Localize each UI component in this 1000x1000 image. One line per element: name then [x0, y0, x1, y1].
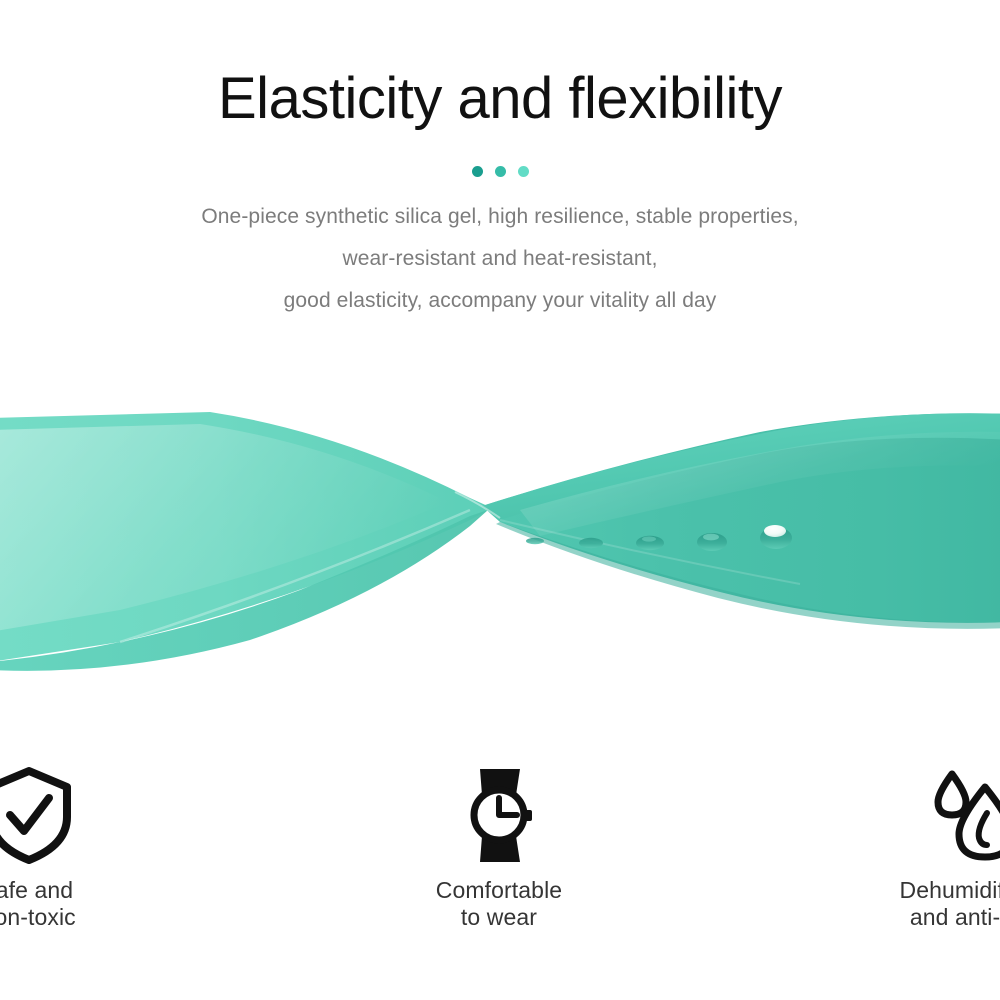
feature-item-safe: safe and non-toxic [0, 765, 195, 945]
divider-dot-3 [518, 166, 529, 177]
feature-caption-line-2: non-toxic [0, 904, 76, 931]
subtitle-line-3: good elasticity, accompany your vitality… [0, 280, 1000, 322]
subtitle-line-2: wear-resistant and heat-resistant, [0, 238, 1000, 280]
wristwatch-icon [453, 765, 545, 865]
page-title: Elasticity and flexibility [0, 63, 1000, 135]
feature-caption-line-2: and anti-sweat [900, 904, 1000, 931]
feature-caption-dehumidification: Dehumidification and anti-sweat [900, 877, 1000, 931]
water-drops-icon [933, 765, 1000, 865]
feature-caption-line-1: Comfortable [436, 877, 562, 904]
feature-icon-wrap [933, 765, 1000, 865]
twisted-band-illustration [0, 370, 1000, 700]
feature-caption-safe: safe and non-toxic [0, 877, 76, 931]
feature-icon-wrap [453, 765, 545, 865]
adjustment-hole-1 [526, 538, 544, 544]
feature-caption-line-1: Dehumidification [900, 877, 1000, 904]
feature-caption-line-1: safe and [0, 877, 76, 904]
adjustment-hole-3-highlight [642, 536, 656, 541]
subtitle-block: One-piece synthetic silica gel, high res… [0, 196, 1000, 322]
feature-row: safe and non-toxic Comfortable to wear [0, 765, 1000, 945]
divider-dots [0, 164, 1000, 178]
feature-icon-wrap [0, 765, 75, 865]
product-feature-page: Elasticity and flexibility One-piece syn… [0, 0, 1000, 1000]
divider-dot-1 [472, 166, 483, 177]
feature-caption-comfortable: Comfortable to wear [436, 877, 562, 931]
divider-dot-2 [495, 166, 506, 177]
shield-check-icon [0, 765, 75, 865]
product-hero-image [0, 370, 1000, 700]
adjustment-hole-4-highlight [703, 534, 719, 541]
feature-item-comfortable: Comfortable to wear [332, 765, 665, 945]
adjustment-hole-2 [579, 538, 603, 548]
feature-item-dehumidification: Dehumidification and anti-sweat [819, 765, 1000, 945]
adjustment-hole-5-highlight [764, 525, 786, 537]
feature-caption-line-2: to wear [436, 904, 562, 931]
subtitle-line-1: One-piece synthetic silica gel, high res… [0, 196, 1000, 238]
